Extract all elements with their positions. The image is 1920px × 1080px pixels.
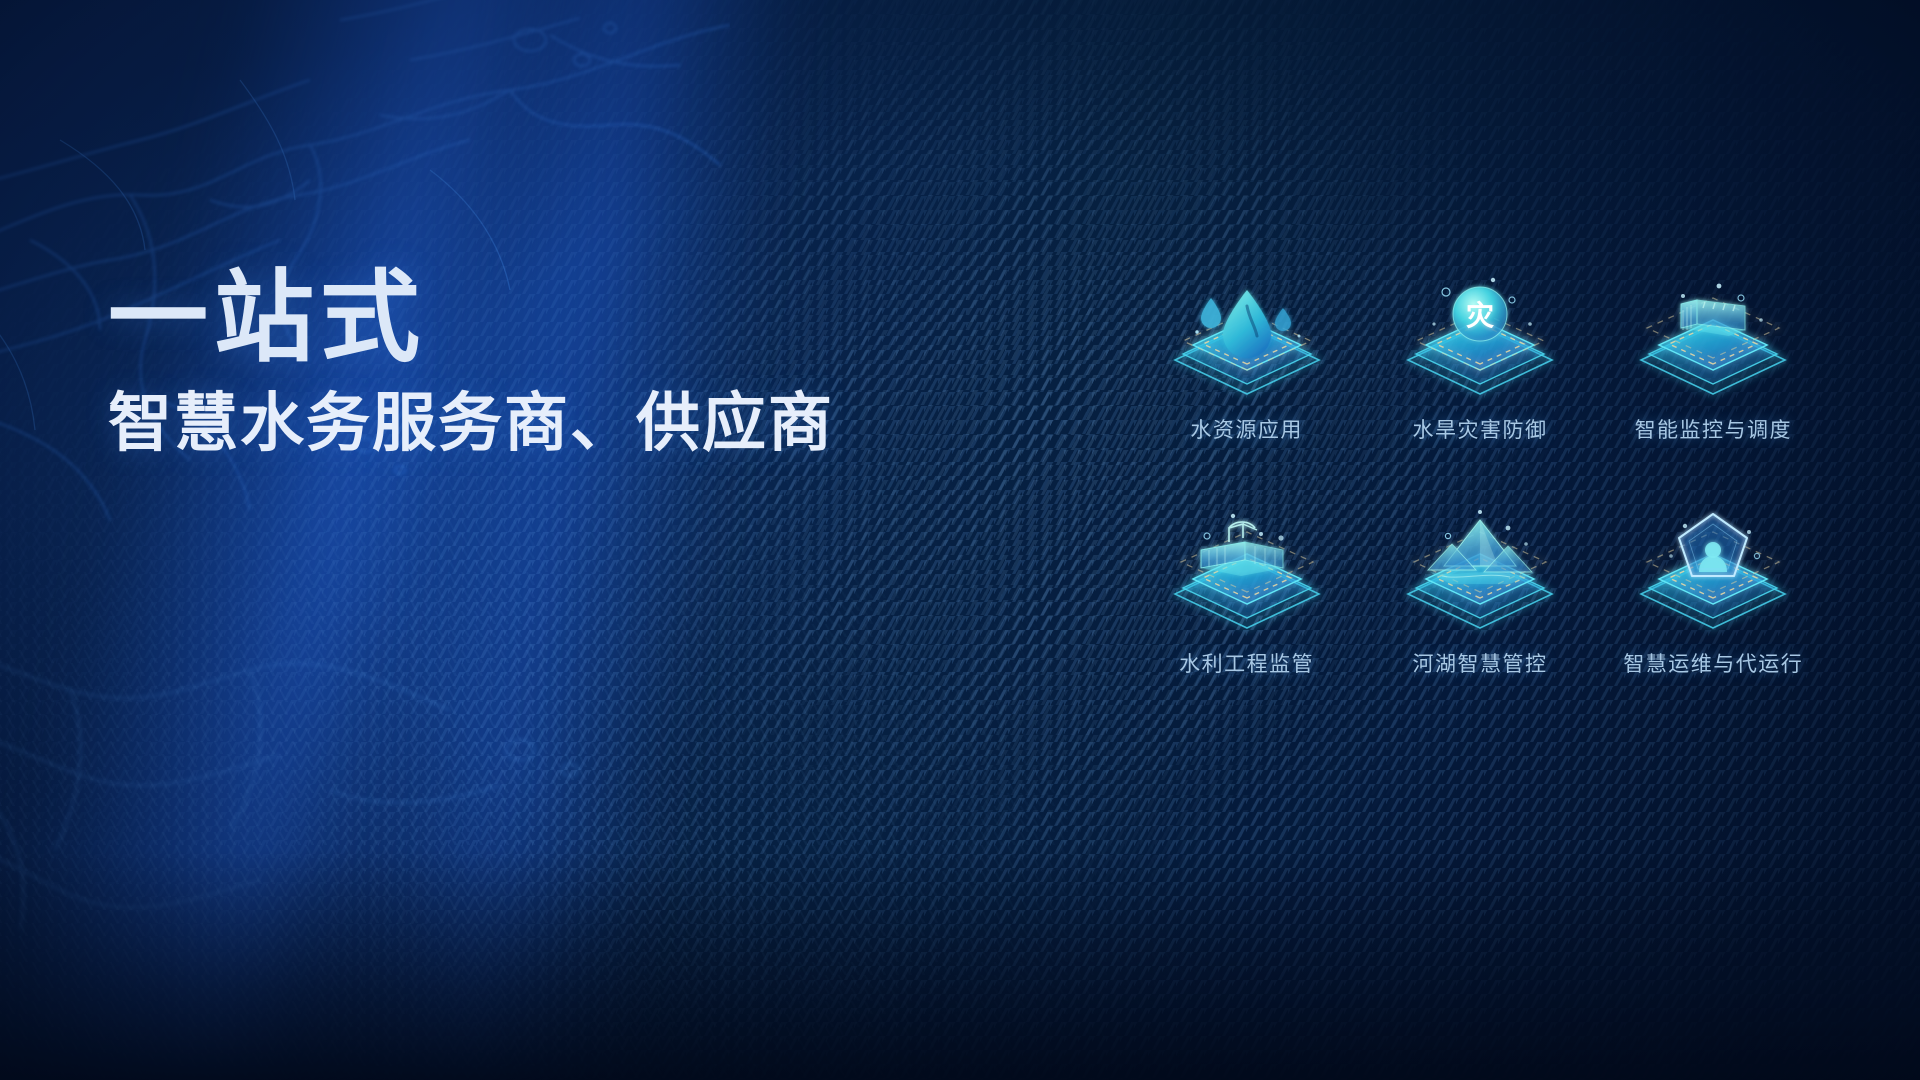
service-item[interactable]: 水资源应用	[1130, 272, 1363, 444]
headline-sub: 智慧水务服务商、供应商	[108, 390, 1008, 457]
hydro-engineering-icon	[1157, 506, 1337, 636]
diagonal-light-band-secondary	[232, 0, 857, 1080]
service-item-label: 智能监控与调度	[1635, 414, 1793, 444]
service-item-label: 智慧运维与代运行	[1623, 648, 1803, 678]
water-drop-icon	[1157, 272, 1337, 402]
river-lake-terrain-icon	[1390, 506, 1570, 636]
service-item[interactable]: 智慧运维与代运行	[1597, 506, 1830, 678]
service-item[interactable]: 智能监控与调度	[1597, 272, 1830, 444]
service-item-label: 水资源应用	[1190, 414, 1303, 444]
service-item[interactable]: 灾 水旱灾害防御	[1363, 272, 1596, 444]
diagonal-light-band	[0, 0, 753, 1080]
bottom-fade-overlay	[0, 850, 1920, 1080]
slide-stage: 一站式 智慧水务服务商、供应商	[0, 0, 1920, 1080]
service-icon-grid: 水资源应用 灾	[1130, 272, 1830, 678]
disaster-badge-char: 灾	[1466, 299, 1494, 331]
monitoring-dam-icon	[1623, 272, 1803, 402]
shield-operations-icon	[1623, 506, 1803, 636]
service-item-label: 水旱灾害防御	[1412, 414, 1547, 444]
headline-block: 一站式 智慧水务服务商、供应商	[108, 268, 1008, 457]
disaster-sphere-icon: 灾	[1390, 272, 1570, 402]
service-item-label: 河湖智慧管控	[1412, 648, 1547, 678]
service-item-label: 水利工程监管	[1179, 648, 1314, 678]
service-item[interactable]: 水利工程监管	[1130, 506, 1363, 678]
headline-main: 一站式	[108, 268, 1008, 368]
service-item[interactable]: 河湖智慧管控	[1363, 506, 1596, 678]
water-ripple-texture-bottom	[0, 560, 640, 1080]
